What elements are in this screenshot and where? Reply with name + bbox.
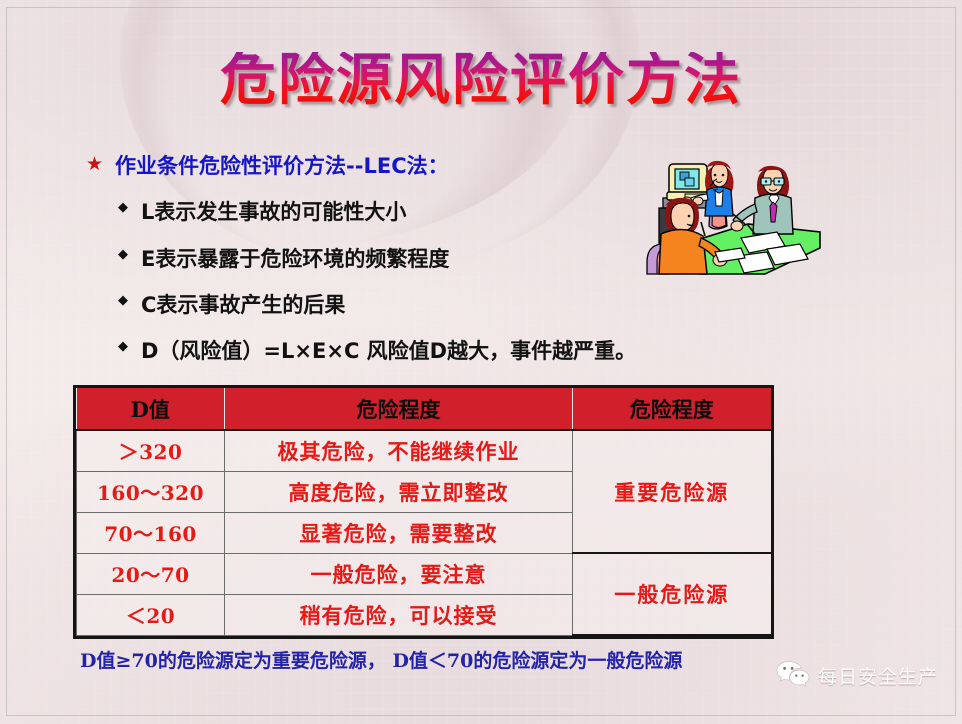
table-header-dvalue: D值 (77, 388, 225, 430)
cell-degree: 极其危险，不能继续作业 (225, 430, 573, 471)
bullet-list: ★ 作业条件危险性评价方法--LEC法： ◆ L表示发生事故的可能性大小 ◆ E… (86, 152, 686, 366)
diamond-bullet-icon: ◆ (118, 337, 128, 358)
diamond-bullet-icon: ◆ (118, 198, 128, 219)
watermark: 每日安全生产 (776, 660, 938, 690)
slide-canvas: 危险源风险评价方法 ★ 作业条件危险性评价方法--LEC法： ◆ L表示发生事故… (0, 0, 962, 724)
bullet-item-c: ◆ C表示事故产生的后果 (118, 291, 686, 319)
bullet-item-d: ◆ D（风险值）=L×E×C 风险值D越大，事件越严重。 (118, 337, 686, 365)
cell-dvalue: ＜20 (77, 594, 225, 635)
cell-degree: 稍有危险，可以接受 (225, 594, 573, 635)
table-header-group: 危险程度 (573, 388, 771, 430)
risk-level-table-wrapper: D值 危险程度 危险程度 ＞320 极其危险，不能继续作业 重要危险源 160～… (76, 388, 770, 636)
cell-dvalue: 160～320 (77, 471, 225, 512)
bullet-level1: ★ 作业条件危险性评价方法--LEC法： (86, 152, 686, 180)
cell-dvalue: 70～160 (77, 512, 225, 553)
table-header-row: D值 危险程度 危险程度 (77, 388, 771, 430)
cell-degree: 高度危险，需立即整改 (225, 471, 573, 512)
bullet-item-d-label: D（风险值）=L×E×C 风险值D越大，事件越严重。 (141, 337, 636, 365)
table-row: ＞320 极其危险，不能继续作业 重要危险源 (77, 430, 771, 471)
cell-degree: 显著危险，需要整改 (225, 512, 573, 553)
wechat-icon (776, 660, 810, 690)
star-bullet-icon: ★ (86, 152, 103, 178)
bullet-level1-label: 作业条件危险性评价方法--LEC法： (115, 152, 449, 180)
cell-group-general: 一般危险源 (573, 553, 771, 635)
bullet-item-c-label: C表示事故产生的后果 (141, 291, 345, 319)
bullet-item-l-label: L表示发生事故的可能性大小 (141, 198, 406, 226)
cell-degree: 一般危险，要注意 (225, 553, 573, 594)
cell-dvalue: ＞320 (77, 430, 225, 471)
cell-dvalue: 20～70 (77, 553, 225, 594)
page-title: 危险源风险评价方法 (0, 52, 962, 108)
risk-level-table: D值 危险程度 危险程度 ＞320 极其危险，不能继续作业 重要危险源 160～… (76, 388, 771, 636)
table-header-degree: 危险程度 (225, 388, 573, 430)
cell-group-major: 重要危险源 (573, 430, 771, 553)
watermark-label: 每日安全生产 (818, 662, 938, 689)
bullet-item-e-label: E表示暴露于危险环境的频繁程度 (141, 245, 449, 273)
bullet-item-l: ◆ L表示发生事故的可能性大小 (118, 198, 686, 226)
office-meeting-clipart (645, 146, 845, 286)
footnote-text: D值≥70的危险源定为重要危险源， D值＜70的危险源定为一般危险源 (80, 648, 720, 675)
diamond-bullet-icon: ◆ (118, 245, 128, 266)
table-row: 20～70 一般危险，要注意 一般危险源 (77, 553, 771, 594)
bullet-item-e: ◆ E表示暴露于危险环境的频繁程度 (118, 245, 686, 273)
diamond-bullet-icon: ◆ (118, 291, 128, 312)
